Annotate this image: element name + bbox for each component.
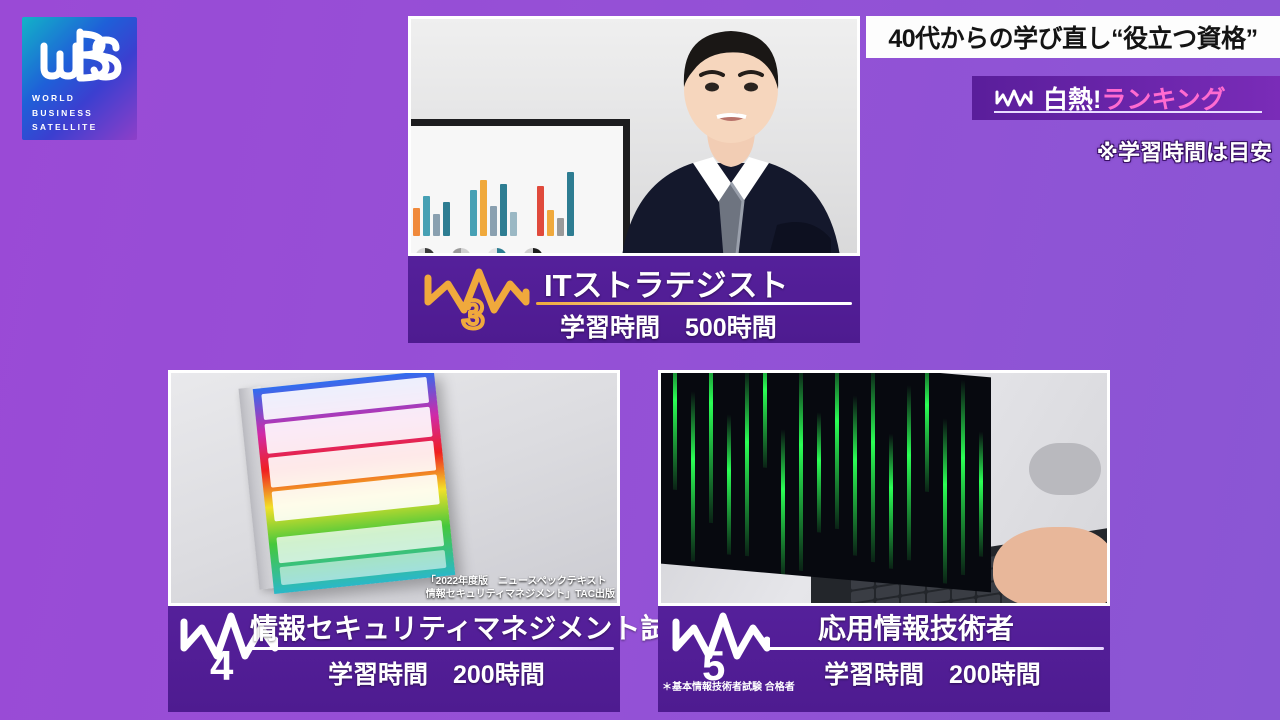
badge-underline <box>994 111 1262 113</box>
ranking-card-3: 3 ITストラテジスト 学習時間 500時間 <box>408 16 860 343</box>
rank4-accent-line <box>242 647 614 650</box>
wbs-word-world: WORLD <box>32 91 131 106</box>
wbs-logo: WORLD BUSINESS SATELLITE <box>22 17 137 140</box>
crown-icon <box>994 85 1034 111</box>
textbook-cover <box>253 370 456 594</box>
rank3-study-hours: 学習時間 500時間 <box>560 308 777 344</box>
headline-text: 40代からの学び直し“役立つ資格” <box>888 19 1257 55</box>
rank5-footnote: ＊基本情報技術者試験 合格者 <box>662 678 795 693</box>
ranking-card-4: 「2022年度版 ニュースペックテキスト 情報セキュリティマネジメント」TAC出… <box>168 370 620 712</box>
presenter-person <box>581 16 860 256</box>
rank5-crown: 5 <box>670 608 770 686</box>
rank3-crown: 3 <box>422 262 530 334</box>
wbs-wordmark: WORLD BUSINESS SATELLITE <box>32 91 131 135</box>
wbs-word-satellite: SATELLITE <box>32 120 131 135</box>
ranking-card-5: 5 応用情報技術者 学習時間 200時間 ＊基本情報技術者試験 合格者 <box>658 370 1110 712</box>
rank3-photo <box>408 16 860 256</box>
study-time-note: ※学習時間は目安 <box>1060 136 1272 166</box>
rank4-number: 4 <box>210 642 234 686</box>
laptop-screen-matrix-code <box>661 370 991 592</box>
credit-line-2: 情報セキュリティマネジメント」TAC出版 <box>426 588 615 601</box>
rank4-study-hours: 学習時間 200時間 <box>328 655 545 691</box>
rank5-title: 応用情報技術者 <box>818 607 1014 647</box>
rank3-title: ITストラテジスト <box>544 260 789 305</box>
rank4-title: 情報セキュリティマネジメント試験 <box>250 607 696 647</box>
wbs-word-business: BUSINESS <box>32 106 131 121</box>
rank3-accent-line <box>536 302 852 305</box>
rank5-study-hours: 学習時間 200時間 <box>824 655 1041 691</box>
rank3-number: 3 <box>462 293 484 334</box>
rank4-info-strip: 4 情報セキュリティマネジメント試験 学習時間 200時間 <box>168 606 620 712</box>
computer-mouse <box>1029 443 1101 495</box>
wbs-monogram <box>22 23 137 95</box>
board-pie-charts <box>415 248 543 256</box>
rank5-info-strip: 5 応用情報技術者 学習時間 200時間 ＊基本情報技術者試験 合格者 <box>658 606 1110 712</box>
rank5-photo <box>658 370 1110 606</box>
rank5-accent-line <box>768 647 1104 650</box>
headline-banner: 40代からの学び直し“役立つ資格” <box>866 16 1280 58</box>
typing-hand <box>993 527 1110 606</box>
credit-line-1: 「2022年度版 ニュースペックテキスト <box>426 575 615 588</box>
rank4-photo-credit: 「2022年度版 ニュースペックテキスト 情報セキュリティマネジメント」TAC出… <box>426 575 615 601</box>
ranking-badge: 白熱! ランキング <box>972 76 1280 120</box>
rank3-info-strip: 3 ITストラテジスト 学習時間 500時間 <box>408 256 860 343</box>
rank4-photo: 「2022年度版 ニュースペックテキスト 情報セキュリティマネジメント」TAC出… <box>168 370 620 606</box>
